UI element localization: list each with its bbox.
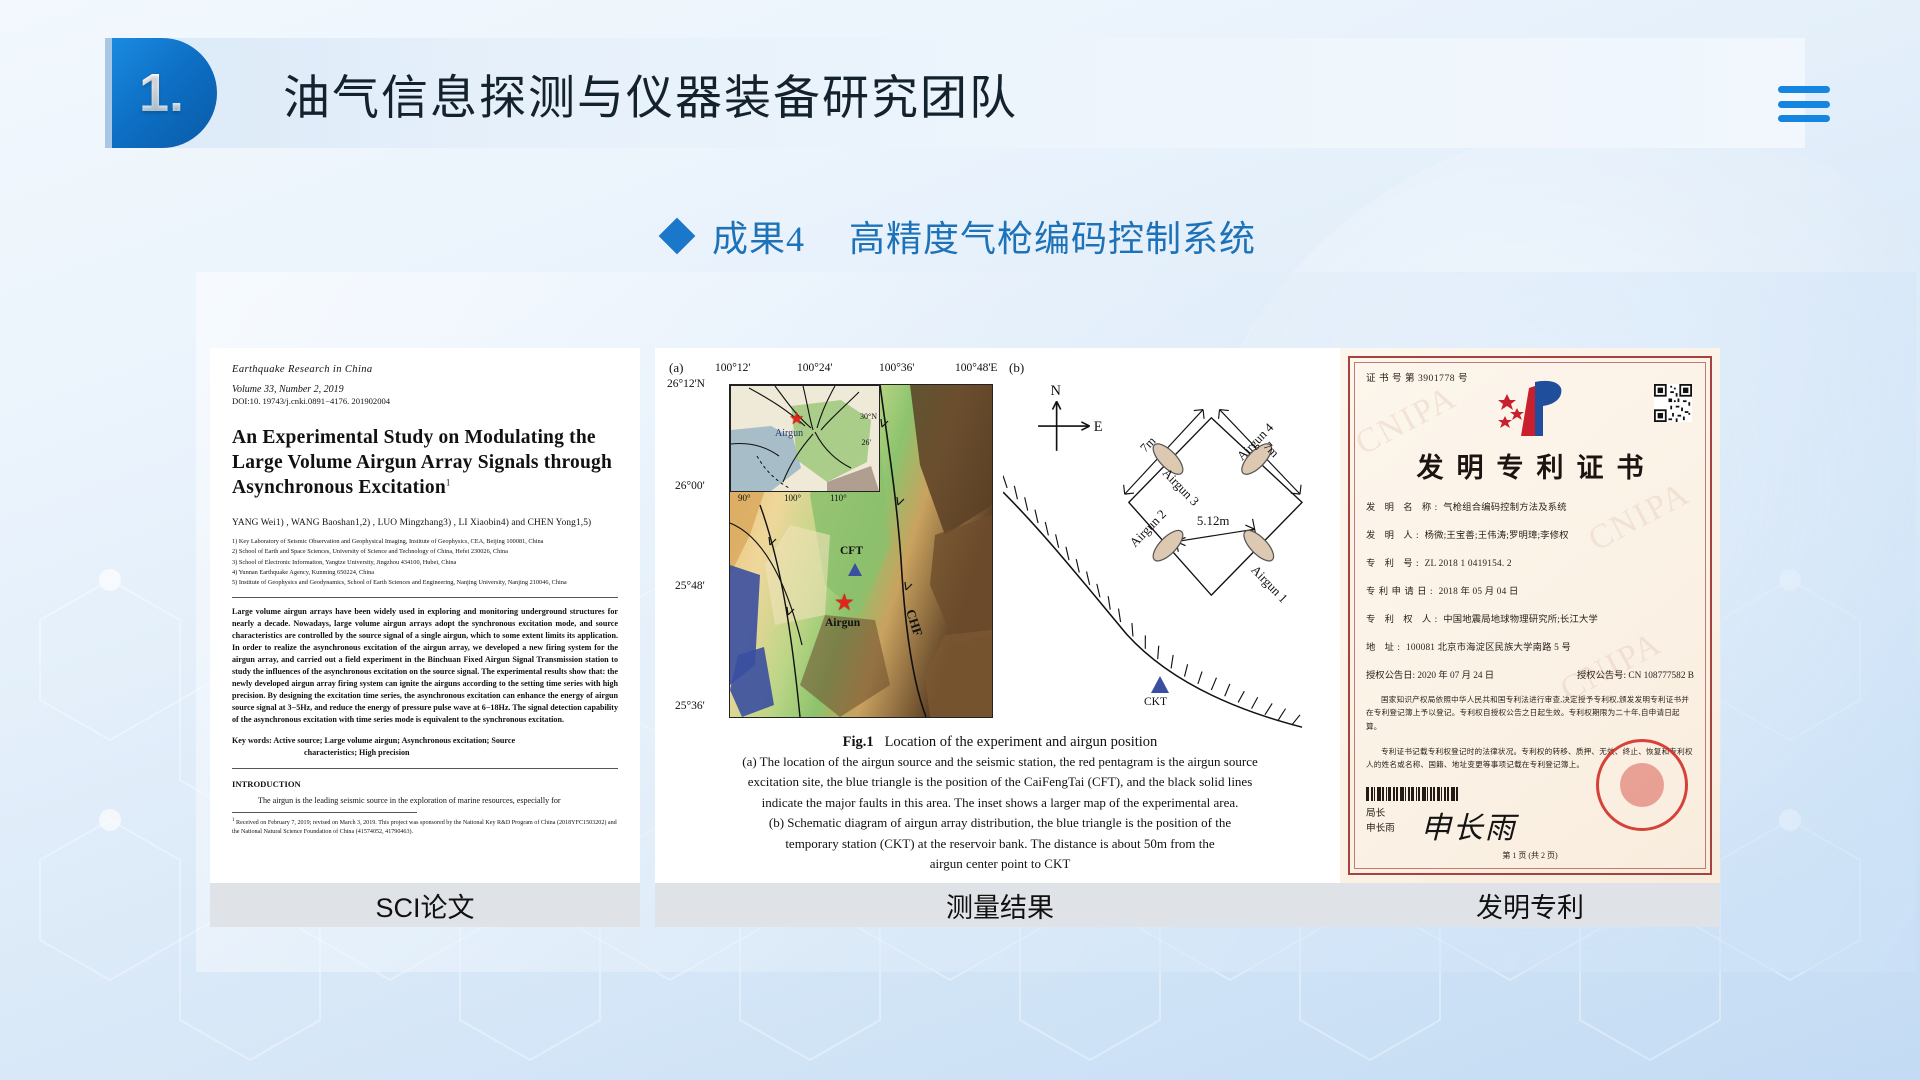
certificate-title: 发明专利证书 xyxy=(1366,446,1694,485)
affiliation-line: 4) Yunnan Earthquake Agency, Kunming 650… xyxy=(232,568,618,578)
paper-preview: Earthquake Research in China Volume 33, … xyxy=(210,348,640,883)
grant-no-value: CN 108777582 B xyxy=(1628,671,1694,681)
field-key: 专 利 权 人: xyxy=(1366,615,1441,625)
station-marker-cft xyxy=(848,563,862,576)
field-value: 中国地震局地球物理研究所;长江大学 xyxy=(1443,615,1598,625)
figure-caption-line: indicate the major faults in this area. … xyxy=(667,794,1333,812)
keywords-label: Key words: xyxy=(232,736,272,745)
lat-tick: 25°48' xyxy=(675,580,705,592)
inset-source-marker: ★ xyxy=(789,410,804,429)
source-marker-airgun: ★ xyxy=(834,591,855,615)
card-patent-certificate[interactable]: CNIPA CNIPA CNIPA 证 书 号 第 3901778 号 xyxy=(1340,348,1720,927)
affiliation-line: 1) Key Laboratory of Seismic Observation… xyxy=(232,537,618,547)
paper-footnote: 1 Received on February 7, 2019; revised … xyxy=(232,817,618,837)
patent-field-row: 地 址: 100081 北京市海淀区民族大学南路 5 号 xyxy=(1366,639,1694,653)
grant-date-value: 2020 年 07 月 24 日 xyxy=(1417,671,1494,681)
paper-body-text: The airgun is the leading seismic source… xyxy=(232,796,618,805)
patent-grant-row: 授权公告日: 2020 年 07 月 24 日 授权公告号: CN 108777… xyxy=(1366,667,1694,681)
inset-tick: 90° xyxy=(738,493,751,503)
official-seal-icon xyxy=(1596,739,1688,831)
field-key: 发 明 人: xyxy=(1366,531,1422,541)
diamond-bullet-icon xyxy=(659,218,696,255)
affiliation-line: 3) School of Electronic Information, Yan… xyxy=(232,558,618,568)
lat-tick: 26°00' xyxy=(675,480,705,492)
inset-airgun-label: Airgun xyxy=(775,428,803,439)
section-number-badge: 1. xyxy=(112,38,217,148)
director-name: 申长雨 xyxy=(1366,822,1395,836)
lon-tick: 100°36' xyxy=(879,362,914,374)
field-key: 发 明 名 称: xyxy=(1366,503,1441,513)
paper-authors: YANG Wei1) , WANG Baoshan1,2) , LUO Ming… xyxy=(232,518,618,528)
figure-caption-line: (b) Schematic diagram of airgun array di… xyxy=(667,814,1333,832)
card-caption-sci: SCI论文 xyxy=(210,883,640,927)
field-value: 100081 北京市海淀区民族大学南路 5 号 xyxy=(1406,643,1571,653)
station-label-ckt: CKT xyxy=(1144,696,1167,708)
director-title: 局长 xyxy=(1366,807,1395,821)
card-sci-paper[interactable]: Earthquake Research in China Volume 33, … xyxy=(210,348,640,927)
figure-caption-line: airgun center point to CKT xyxy=(667,855,1333,873)
subtitle-row: 成果4 高精度气枪编码控制系统 xyxy=(0,207,1920,265)
paper-doi: DOI:10. 19743/j.cnki.0891−4176. 20190200… xyxy=(232,396,618,406)
subtitle-text: 高精度气枪编码控制系统 xyxy=(849,210,1256,262)
affiliation-line: 5) Institute of Geophysics and Geodynami… xyxy=(232,578,618,588)
field-key: 专利申请日: xyxy=(1366,587,1436,597)
grant-no-key: 授权公告号: xyxy=(1577,671,1626,681)
cnipa-logo-icon xyxy=(1491,378,1569,440)
grant-date: 授权公告日: 2020 年 07 月 24 日 xyxy=(1366,667,1494,681)
hamburger-menu-icon[interactable] xyxy=(1778,86,1830,122)
svg-text:Airgun 1: Airgun 1 xyxy=(1248,563,1290,606)
lat-tick: 26°12'N xyxy=(667,378,705,390)
figure-panel-b: (b) N E xyxy=(1003,358,1333,730)
page-title: 油气信息探测与仪器装备研究团队 xyxy=(283,38,1018,148)
divider xyxy=(232,597,618,598)
card-caption-patent: 发明专利 xyxy=(1340,883,1720,927)
patent-field-row: 专 利 权 人: 中国地震局地球物理研究所;长江大学 xyxy=(1366,611,1694,625)
field-value: 2018 年 05 月 04 日 xyxy=(1439,587,1519,597)
inset-overview-map: ★ Airgun 30°N 26' xyxy=(730,385,880,492)
inset-tick: 30°N xyxy=(860,412,877,421)
lon-tick: 100°48'E xyxy=(955,362,997,374)
field-value: 气枪组合编码控制方法及系统 xyxy=(1443,503,1566,513)
station-marker-ckt xyxy=(1151,676,1169,693)
lat-tick: 25°36' xyxy=(675,700,705,712)
svg-text:5.12m: 5.12m xyxy=(1197,514,1230,528)
footnote-divider xyxy=(232,812,417,813)
patent-paragraph: 国家知识产权局依照中华人民共和国专利法进行审查,决定授予专利权,颁发发明专利证书… xyxy=(1366,693,1694,733)
figure-panel-a: (a) 100°12' 100°24' 100°36' 100°48'E 26°… xyxy=(667,358,997,730)
paper-abstract: Large volume airgun arrays have been wid… xyxy=(232,606,618,726)
patent-field-row: 专利申请日: 2018 年 05 月 04 日 xyxy=(1366,583,1694,597)
figure-caption-line: temporary station (CKT) at the reservoir… xyxy=(667,835,1333,853)
divider xyxy=(232,768,618,769)
figure-preview: (a) 100°12' 100°24' 100°36' 100°48'E 26°… xyxy=(655,348,1345,883)
patent-field-row: 发 明 名 称: 气枪组合编码控制方法及系统 xyxy=(1366,499,1694,513)
inset-tick: 110° xyxy=(830,493,847,503)
affiliation-line: 2) School of Earth and Space Sciences, U… xyxy=(232,547,618,557)
field-value: ZL 2018 1 0419154. 2 xyxy=(1425,559,1512,569)
lon-tick: 100°24' xyxy=(797,362,832,374)
figure-caption-line: excitation site, the blue triangle is th… xyxy=(667,773,1333,791)
section-number: 1. xyxy=(139,66,190,120)
field-key: 专 利 号: xyxy=(1366,559,1422,569)
page-note: 第 1 页 (共 2 页) xyxy=(1346,850,1714,861)
lon-tick: 100°12' xyxy=(715,362,750,374)
station-label-cft: CFT xyxy=(840,545,863,557)
header-left-accent xyxy=(105,38,112,148)
card-measurement-figure[interactable]: (a) 100°12' 100°24' 100°36' 100°48'E 26°… xyxy=(655,348,1345,927)
subtitle-label: 成果4 xyxy=(712,210,805,262)
paper-affiliations: 1) Key Laboratory of Seismic Observation… xyxy=(232,537,618,588)
inset-tick: 100° xyxy=(784,493,801,503)
paper-volume: Volume 33, Number 2, 2019 xyxy=(232,384,618,395)
paper-journal: Earthquake Research in China xyxy=(232,364,618,375)
paper-title: An Experimental Study on Modulating the … xyxy=(232,426,618,500)
slide-root: 1. 油气信息探测与仪器装备研究团队 成果4 高精度气枪编码控制系统 Earth… xyxy=(0,0,1920,1080)
paper-title-footnote-marker: 1 xyxy=(446,477,451,487)
panel-a-label: (a) xyxy=(669,360,683,376)
inset-tick: 26' xyxy=(862,438,871,447)
grant-number: 授权公告号: CN 108777582 B xyxy=(1577,667,1694,681)
topographic-map: CHF CFT ★ Airgun xyxy=(729,384,993,718)
patent-preview: CNIPA CNIPA CNIPA 证 书 号 第 3901778 号 xyxy=(1340,348,1720,883)
patent-field-row: 发 明 人: 杨微;王宝善;王伟涛;罗明璋;李修权 xyxy=(1366,527,1694,541)
svg-text:E: E xyxy=(1094,419,1103,435)
handwritten-signature: 申长雨 xyxy=(1421,803,1517,847)
source-label-airgun: Airgun xyxy=(825,617,860,629)
qr-code-icon xyxy=(1654,384,1692,422)
figure-caption-line: (a) The location of the airgun source an… xyxy=(667,753,1333,771)
keywords-line-2: characteristics; High precision xyxy=(232,747,618,759)
field-key: 地 址: xyxy=(1366,643,1404,653)
keywords-line-1: Active source; Large volume airgun; Asyn… xyxy=(273,736,515,745)
paper-keywords: Key words: Active source; Large volume a… xyxy=(232,735,618,759)
figure-caption: Fig.1 Location of the experiment and air… xyxy=(667,734,1333,874)
field-value: 杨微;王宝善;王伟涛;罗明璋;李修权 xyxy=(1425,531,1569,541)
svg-text:N: N xyxy=(1050,383,1061,399)
director-block: 局长 申长雨 xyxy=(1366,807,1395,836)
patent-field-row: 专 利 号: ZL 2018 1 0419154. 2 xyxy=(1366,555,1694,569)
card-caption-measurement: 测量结果 xyxy=(655,883,1345,927)
paper-section-heading: INTRODUCTION xyxy=(232,779,618,789)
grant-date-key: 授权公告日: xyxy=(1366,671,1415,681)
